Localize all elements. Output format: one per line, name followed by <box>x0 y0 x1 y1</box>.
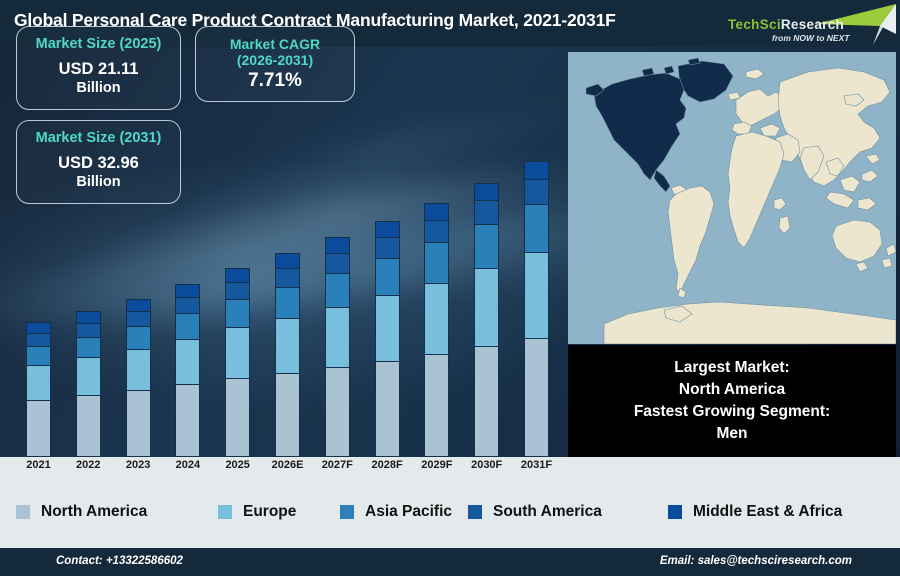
x-axis-tick-2031F: 2031F <box>513 459 560 471</box>
x-axis-tick-2030F: 2030F <box>463 459 510 471</box>
legend-label: South America <box>493 503 602 521</box>
bar-2025 <box>225 268 250 457</box>
email-text[interactable]: Email: sales@techsciresearch.com <box>660 555 852 567</box>
world-map-icon <box>568 52 896 344</box>
bar-segment-middle-east-africa <box>275 253 300 268</box>
chart-legend: North AmericaEuropeAsia PacificSouth Ame… <box>0 488 900 536</box>
bar-segment-asia-pacific <box>524 204 549 252</box>
bar-segment-middle-east-africa <box>524 161 549 179</box>
bar-segment-south-america <box>325 253 350 273</box>
bar-segment-europe <box>524 252 549 338</box>
bar-segment-middle-east-africa <box>424 203 449 220</box>
bar-segment-north-america <box>126 390 151 457</box>
legend-swatch-icon <box>16 505 30 519</box>
bar-segment-north-america <box>424 354 449 457</box>
bar-segment-middle-east-africa <box>175 284 200 297</box>
world-map-panel <box>568 52 896 344</box>
bar-segment-south-america <box>26 333 51 346</box>
legend-swatch-icon <box>218 505 232 519</box>
x-axis-tick-2022: 2022 <box>65 459 112 471</box>
bar-segment-middle-east-africa <box>76 311 101 323</box>
bar-segment-europe <box>275 318 300 373</box>
bar-segment-middle-east-africa <box>375 221 400 238</box>
bar-segment-south-america <box>175 297 200 313</box>
fastest-segment-label: Fastest Growing Segment: <box>634 401 830 423</box>
x-axis-tick-2027F: 2027F <box>314 459 361 471</box>
bar-2029F <box>424 203 449 457</box>
x-axis-tick-2029F: 2029F <box>413 459 460 471</box>
bar-segment-europe <box>325 307 350 367</box>
bar-segment-europe <box>375 295 400 360</box>
bar-segment-south-america <box>524 179 549 204</box>
legend-item-middle-east-africa[interactable]: Middle East & Africa <box>668 503 842 521</box>
bar-segment-europe <box>175 339 200 385</box>
bar-segment-north-america <box>474 346 499 457</box>
legend-swatch-icon <box>340 505 354 519</box>
bar-segment-asia-pacific <box>424 242 449 283</box>
bar-segment-europe <box>26 365 51 400</box>
bar-segment-middle-east-africa <box>126 299 151 312</box>
x-axis-tick-2024: 2024 <box>164 459 211 471</box>
x-axis-tick-2028F: 2028F <box>364 459 411 471</box>
legend-swatch-icon <box>468 505 482 519</box>
bar-2027F <box>325 237 350 457</box>
bar-2023 <box>126 299 151 457</box>
logo-wordmark: TechSciResearch <box>728 17 844 32</box>
legend-item-asia-pacific[interactable]: Asia Pacific <box>340 503 452 521</box>
largest-market-value: North America <box>679 379 785 401</box>
bar-segment-asia-pacific <box>375 258 400 295</box>
bar-segment-europe <box>225 327 250 378</box>
bar-segment-north-america <box>524 338 549 457</box>
bar-segment-north-america <box>275 373 300 457</box>
techsci-research-logo[interactable]: TechSciResearch from NOW to NEXT <box>720 2 896 47</box>
bar-2022 <box>76 311 101 457</box>
logo-techsci-text: TechSci <box>728 17 781 32</box>
stacked-bar-chart <box>0 47 565 457</box>
legend-label: Middle East & Africa <box>693 503 842 521</box>
bar-segment-north-america <box>375 361 400 457</box>
bar-2031F <box>524 161 549 457</box>
bar-2028F <box>375 221 400 457</box>
bar-segment-asia-pacific <box>225 299 250 327</box>
legend-item-south-america[interactable]: South America <box>468 503 602 521</box>
bar-segment-asia-pacific <box>126 326 151 349</box>
bar-segment-asia-pacific <box>175 313 200 339</box>
fastest-segment-value: Men <box>717 423 748 445</box>
bar-segment-middle-east-africa <box>26 322 51 333</box>
bar-segment-south-america <box>275 268 300 286</box>
x-axis-tick-2021: 2021 <box>15 459 62 471</box>
bar-segment-europe <box>126 349 151 390</box>
bar-segment-asia-pacific <box>325 273 350 307</box>
bar-segment-south-america <box>424 220 449 242</box>
legend-item-europe[interactable]: Europe <box>218 503 296 521</box>
bar-segment-asia-pacific <box>26 346 51 365</box>
bar-segment-europe <box>474 268 499 346</box>
bar-segment-north-america <box>76 395 101 457</box>
bar-segment-south-america <box>474 200 499 223</box>
legend-label: North America <box>41 503 147 521</box>
bar-segment-south-america <box>225 282 250 299</box>
footer-bar: Contact: +13322586602 Email: sales@techs… <box>0 548 900 576</box>
bar-segment-middle-east-africa <box>474 183 499 200</box>
contact-text: Contact: +13322586602 <box>56 555 183 567</box>
bar-2021 <box>26 322 51 457</box>
x-axis-tick-2026E: 2026E <box>264 459 311 471</box>
infographic-root: Global Personal Care Product Contract Ma… <box>0 0 900 576</box>
legend-swatch-icon <box>668 505 682 519</box>
legend-label: Asia Pacific <box>365 503 452 521</box>
x-axis-tick-2025: 2025 <box>214 459 261 471</box>
x-axis-tick-2023: 2023 <box>115 459 162 471</box>
bar-segment-asia-pacific <box>76 337 101 358</box>
legend-item-north-america[interactable]: North America <box>16 503 147 521</box>
bar-segment-south-america <box>126 311 151 326</box>
bar-segment-middle-east-africa <box>325 237 350 253</box>
bar-segment-asia-pacific <box>474 224 499 268</box>
chart-x-axis: 202120222023202420252026E2027F2028F2029F… <box>0 457 565 479</box>
bar-segment-north-america <box>175 384 200 457</box>
bar-2030F <box>474 183 499 457</box>
logo-tagline: from NOW to NEXT <box>772 33 849 43</box>
bar-segment-north-america <box>225 378 250 457</box>
legend-label: Europe <box>243 503 296 521</box>
bar-2024 <box>175 284 200 457</box>
bar-segment-south-america <box>375 237 400 258</box>
bar-2026E <box>275 253 300 457</box>
bar-segment-europe <box>424 283 449 354</box>
bar-segment-europe <box>76 357 101 395</box>
bar-segment-south-america <box>76 323 101 337</box>
market-highlights-box: Largest Market: North America Fastest Gr… <box>568 345 896 457</box>
bar-segment-middle-east-africa <box>225 268 250 282</box>
bar-segment-asia-pacific <box>275 287 300 318</box>
logo-research-text: Research <box>781 17 844 32</box>
bar-segment-north-america <box>26 400 51 457</box>
largest-market-label: Largest Market: <box>674 357 789 379</box>
bar-segment-north-america <box>325 367 350 457</box>
